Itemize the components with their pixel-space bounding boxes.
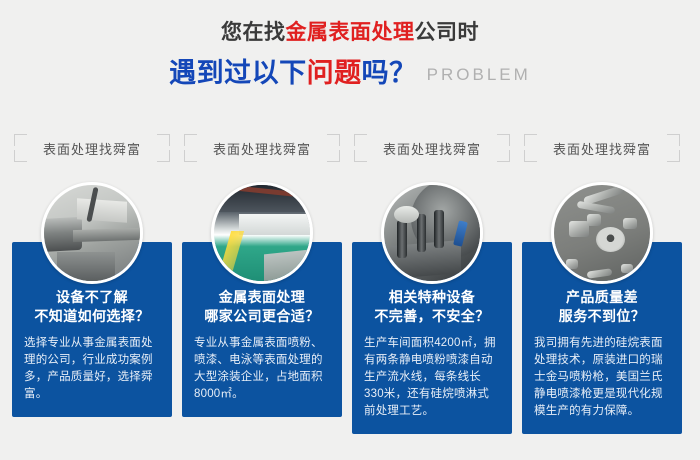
card-3-title: 相关特种设备 不完善，不安全？ [352,288,512,326]
card-4-body: 产品质量差 服务不到位？ 我司拥有先进的硅烷表面处理技术，原装进口的瑞士金马喷粉… [522,182,682,422]
heading-line2-c: 问题 [307,58,362,88]
card-1-description: 选择专业从事金属表面处理的公司，行业成功案例多，产品质量好，选择舜富。 [24,335,160,403]
heading-line1-post: 公司时 [415,21,480,44]
lathe-machining-photo [44,185,140,281]
card-1-title-line-1: 设备不了解 [18,288,166,307]
card-3-tag-label: 表面处理找舜富 [383,139,481,158]
fasteners-hardware-photo [554,185,650,281]
heading-line2-b: 下 [279,58,307,88]
card-4-title-line-2: 服务不到位？ [528,307,676,326]
card-3-photo [381,182,483,284]
card-1-photo [41,182,143,284]
corner-top-right-icon [327,134,340,146]
card-4-title-line-1: 产品质量差 [528,288,676,307]
card-3-title-line-1: 相关特种设备 [358,288,506,307]
problem-card-row: 表面处理找舜富 设备不了解 不知道如何选择？ 选择专业从事金属表面处理的公司，行… [0,132,700,432]
heading-line1-highlight: 金属表面处理 [286,21,415,44]
heading-line-2: 遇到过以下问题吗？PROBLEM [0,55,700,93]
corner-top-left-icon [354,134,367,146]
card-4-photo [551,182,653,284]
corner-top-right-icon [667,134,680,146]
card-1-tag: 表面处理找舜富 [14,132,170,164]
corner-bottom-right-icon [327,150,340,162]
corner-top-left-icon [184,134,197,146]
problem-card-3[interactable]: 表面处理找舜富 相关特种设备 不完善，不安全？ 生产车间面积4200㎡，拥有两条… [352,132,512,422]
card-4-description: 我司拥有先进的硅烷表面处理技术，原装进口的瑞士金马喷粉枪，美国兰氏静电喷漆枪更是… [534,335,670,420]
card-2-title: 金属表面处理 哪家公司更合适？ [182,288,342,326]
corner-top-right-icon [157,134,170,146]
corner-top-left-icon [524,134,537,146]
card-3-description: 生产车间面积4200㎡，拥有两条静电喷粉喷漆自动生产流水线，每条线长330米，还… [364,335,500,420]
card-4-tag-label: 表面处理找舜富 [553,139,651,158]
corner-bottom-left-icon [14,150,27,162]
problem-card-1[interactable]: 表面处理找舜富 设备不了解 不知道如何选择？ 选择专业从事金属表面处理的公司，行… [12,132,172,418]
card-2-title-line-1: 金属表面处理 [188,288,336,307]
corner-bottom-left-icon [184,150,197,162]
card-3-tag: 表面处理找舜富 [354,132,510,164]
card-1-title: 设备不了解 不知道如何选择？ [12,288,172,326]
card-1-body: 设备不了解 不知道如何选择？ 选择专业从事金属表面处理的公司，行业成功案例多，产… [12,182,172,418]
card-1-title-line-2: 不知道如何选择？ [18,307,166,326]
card-2-tag-label: 表面处理找舜富 [213,139,311,158]
heading-english-label: PROBLEM [427,65,531,84]
heading-line1-pre: 您在找 [221,21,286,44]
corner-bottom-right-icon [157,150,170,162]
card-2-tag: 表面处理找舜富 [184,132,340,164]
problem-card-4[interactable]: 表面处理找舜富 产品质量差 服务不到位？ 我司拥有先进的硅烷表面处理技术，原装进… [522,132,682,422]
card-4-tag: 表面处理找舜富 [524,132,680,164]
factory-workshop-photo [214,185,310,281]
corner-bottom-left-icon [524,150,537,162]
corner-top-right-icon [497,134,510,146]
card-3-title-line-2: 不完善，不安全？ [358,307,506,326]
card-2-body: 金属表面处理 哪家公司更合适？ 专业从事金属表面喷粉、喷漆、电泳等表面处理的大型… [182,182,342,418]
section-heading: 您在找金属表面处理公司时 遇到过以下问题吗？PROBLEM [0,18,700,93]
card-2-description: 专业从事金属表面喷粉、喷漆、电泳等表面处理的大型涂装企业，占地面积8000㎡。 [194,335,330,403]
corner-bottom-right-icon [497,150,510,162]
heading-line2-a: 遇到过以 [169,58,279,88]
heading-line-1: 您在找金属表面处理公司时 [0,18,700,48]
heading-line2-d: 吗？ [362,58,417,88]
problem-section: 您在找金属表面处理公司时 遇到过以下问题吗？PROBLEM 表面处理找舜富 设备… [0,0,700,460]
card-3-body: 相关特种设备 不完善，不安全？ 生产车间面积4200㎡，拥有两条静电喷粉喷漆自动… [352,182,512,422]
card-4-title: 产品质量差 服务不到位？ [522,288,682,326]
corner-bottom-left-icon [354,150,367,162]
card-2-title-line-2: 哪家公司更合适？ [188,307,336,326]
corner-bottom-right-icon [667,150,680,162]
card-1-tag-label: 表面处理找舜富 [43,139,141,158]
card-2-photo [211,182,313,284]
problem-card-2[interactable]: 表面处理找舜富 金属表面处理 哪家公司更合适？ 专业从事金属表面喷粉、喷漆、电泳… [182,132,342,418]
machined-bolts-photo [384,185,480,281]
corner-top-left-icon [14,134,27,146]
